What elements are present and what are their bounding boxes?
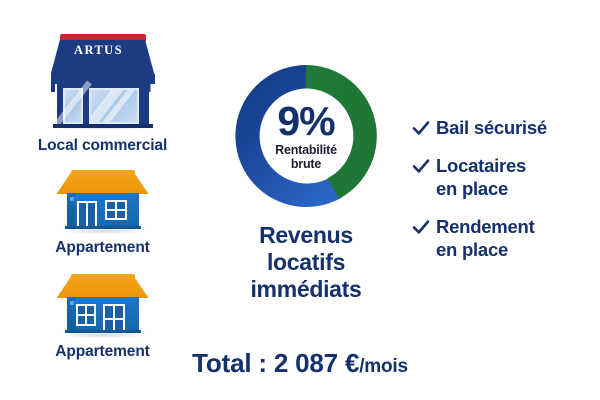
asset-label-appartement-1: Appartement bbox=[0, 239, 205, 256]
benefit-item-rendement-en-place: Rendement en place bbox=[412, 216, 594, 261]
asset-item-appartement-1: Appartement bbox=[0, 170, 205, 256]
roof bbox=[57, 276, 149, 298]
house-base bbox=[65, 330, 141, 333]
vent-icon bbox=[70, 301, 74, 305]
donut-sublabel-line-2: brute bbox=[275, 157, 337, 171]
total-amount: Total : 2 087 € bbox=[192, 348, 359, 378]
house-icon bbox=[0, 274, 205, 340]
donut-chart-block: 9% Rentabilité brute Revenus locatifs im… bbox=[206, 60, 406, 303]
total-row: Total : 2 087 €/mois bbox=[0, 348, 600, 379]
donut-caption: Revenus locatifs immédiats bbox=[206, 222, 406, 303]
benefit-text: Bail sécurisé bbox=[436, 117, 547, 139]
donut-chart: 9% Rentabilité brute bbox=[230, 60, 382, 212]
donut-sublabel-line-1: Rentabilité bbox=[275, 143, 337, 157]
benefit-text: Locataires en place bbox=[436, 155, 526, 200]
check-icon bbox=[412, 155, 430, 177]
asset-label-local-commercial: Local commercial bbox=[0, 137, 205, 154]
donut-sublabel: Rentabilité brute bbox=[275, 143, 337, 171]
benefit-line-1: Bail sécurisé bbox=[436, 117, 547, 139]
asset-item-local-commercial: ARTUS Local commercial bbox=[0, 34, 205, 154]
assets-column: ARTUS Local commercial bbox=[0, 34, 205, 344]
check-icon bbox=[412, 216, 430, 238]
window bbox=[103, 304, 125, 332]
donut-caption-line-2: locatifs bbox=[206, 249, 406, 276]
infographic-canvas: ARTUS Local commercial bbox=[0, 0, 600, 400]
benefit-text: Rendement en place bbox=[436, 216, 535, 261]
roof bbox=[57, 172, 149, 194]
storefront-base bbox=[53, 124, 153, 128]
house-base bbox=[65, 226, 141, 229]
benefit-line-2: en place bbox=[436, 178, 526, 200]
benefit-line-1: Locataires bbox=[436, 155, 526, 177]
storefront-sign-text: ARTUS bbox=[47, 43, 151, 58]
storefront-icon: ARTUS bbox=[0, 34, 205, 134]
check-icon bbox=[412, 117, 430, 139]
awning-top-strip bbox=[60, 34, 146, 41]
door bbox=[77, 201, 97, 228]
vent-icon bbox=[70, 197, 74, 201]
donut-caption-line-1: Revenus bbox=[206, 222, 406, 249]
benefit-item-locataires-en-place: Locataires en place bbox=[412, 155, 594, 200]
donut-value: 9% bbox=[277, 101, 334, 141]
benefit-line-1: Rendement bbox=[436, 216, 535, 238]
house-icon bbox=[0, 170, 205, 236]
total-period-unit: /mois bbox=[359, 356, 408, 377]
benefit-line-2: en place bbox=[436, 239, 535, 261]
donut-center-labels: 9% Rentabilité brute bbox=[230, 60, 382, 212]
window bbox=[76, 304, 96, 326]
donut-caption-line-3: immédiats bbox=[206, 276, 406, 303]
window bbox=[105, 200, 127, 220]
benefits-list: Bail sécurisé Locataires en place Rendem… bbox=[412, 117, 594, 261]
storefront-window-right bbox=[89, 88, 139, 124]
benefit-item-bail-securise: Bail sécurisé bbox=[412, 117, 594, 139]
storefront-window-left bbox=[63, 88, 83, 124]
